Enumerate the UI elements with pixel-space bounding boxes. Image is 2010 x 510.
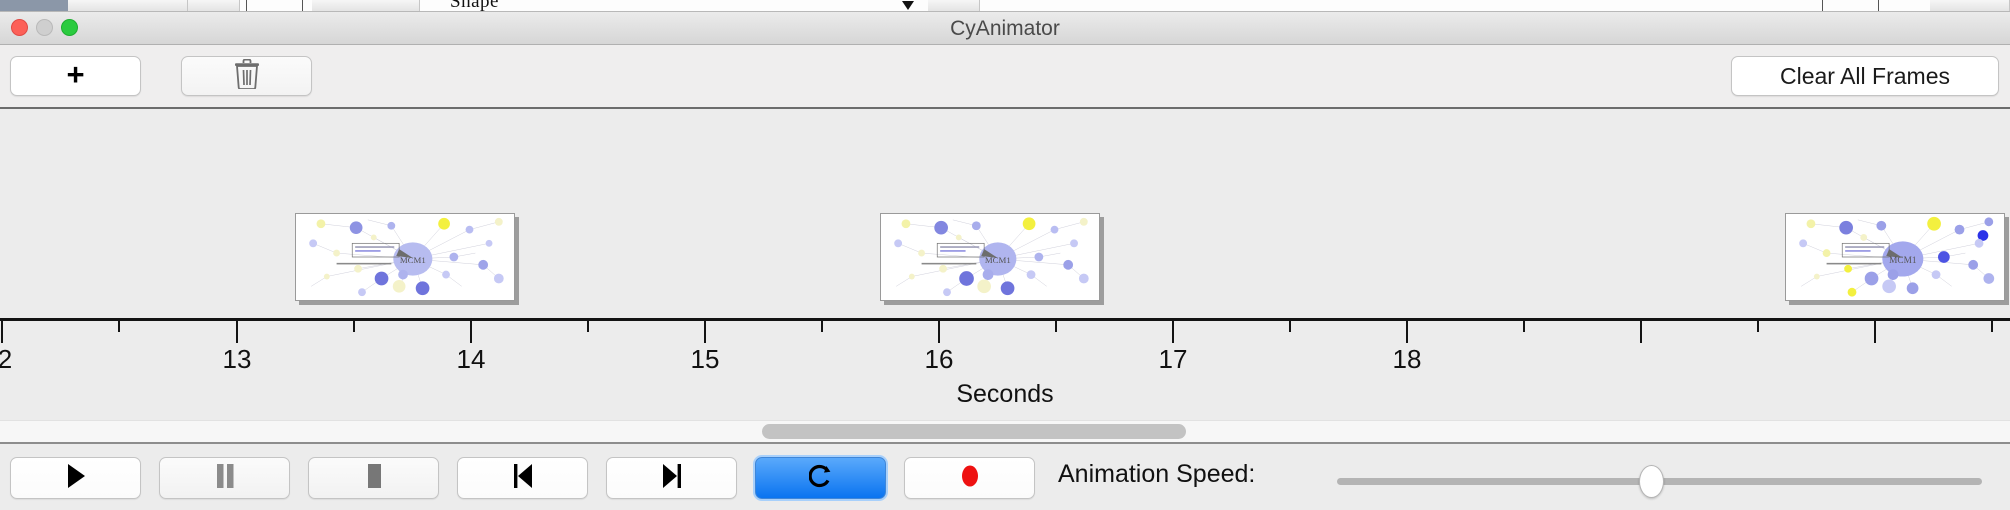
play-icon bbox=[65, 463, 87, 494]
toolbar: + Clear All Frames bbox=[0, 45, 2010, 109]
ruler-tick-major bbox=[470, 321, 472, 343]
ruler-label-13: 13 bbox=[223, 344, 252, 375]
ruler-baseline bbox=[0, 318, 2010, 321]
ruler-tick-minor bbox=[587, 321, 589, 332]
timeline-ruler[interactable]: 2 13 14 15 16 17 18 bbox=[0, 318, 2010, 355]
frames-timeline-panel[interactable]: MCM1 bbox=[0, 109, 2010, 318]
trash-icon bbox=[234, 59, 260, 94]
timeline-frame-3[interactable]: MCM1 bbox=[1785, 213, 2005, 301]
background-window-cell bbox=[1930, 0, 2010, 11]
background-window-caret-icon bbox=[902, 1, 914, 10]
pause-button[interactable] bbox=[159, 457, 290, 499]
ruler-label-18: 18 bbox=[1393, 344, 1422, 375]
ruler-tick-minor bbox=[1523, 321, 1525, 332]
background-window-tick bbox=[1822, 0, 1823, 11]
record-icon bbox=[958, 463, 982, 494]
ruler-label-16: 16 bbox=[925, 344, 954, 375]
ruler-tick-minor bbox=[1991, 321, 1993, 332]
ruler-tick-minor bbox=[1055, 321, 1057, 332]
timeline-frame-1[interactable]: MCM1 bbox=[295, 213, 515, 301]
ruler-tick-major bbox=[704, 321, 706, 343]
record-button[interactable] bbox=[904, 457, 1035, 499]
background-window-label: Shape bbox=[450, 0, 499, 12]
background-window-tick bbox=[1878, 0, 1879, 11]
ruler-tick-minor bbox=[821, 321, 823, 332]
background-window-cell bbox=[312, 0, 420, 11]
clear-all-frames-button[interactable]: Clear All Frames bbox=[1731, 56, 1999, 96]
network-thumbnail-3: MCM1 bbox=[1786, 214, 2004, 300]
ruler-tick-minor bbox=[353, 321, 355, 332]
add-frame-button[interactable]: + bbox=[10, 56, 141, 96]
skip-back-icon bbox=[510, 463, 536, 494]
hub-node-label: MCM1 bbox=[985, 255, 1011, 265]
ruler-label-15: 15 bbox=[691, 344, 720, 375]
ruler-tick-minor bbox=[1289, 321, 1291, 332]
ruler-tick-minor bbox=[1757, 321, 1759, 332]
background-window-cell bbox=[928, 0, 980, 11]
background-window-tick bbox=[246, 0, 247, 11]
skip-to-end-button[interactable] bbox=[606, 457, 737, 499]
ruler-label-12: 2 bbox=[0, 344, 12, 375]
skip-to-start-button[interactable] bbox=[457, 457, 588, 499]
ruler-tick-minor bbox=[118, 321, 120, 332]
loop-button[interactable] bbox=[755, 457, 886, 499]
stop-button[interactable] bbox=[308, 457, 439, 499]
timeline-scrollbar-thumb[interactable] bbox=[762, 424, 1186, 439]
stop-icon bbox=[363, 463, 385, 494]
play-button[interactable] bbox=[10, 457, 141, 499]
ruler-tick-major bbox=[236, 321, 238, 343]
animation-speed-slider-thumb[interactable] bbox=[1639, 465, 1664, 498]
pause-icon bbox=[214, 463, 236, 494]
window-title: CyAnimator bbox=[0, 12, 2010, 45]
hub-node-label: MCM1 bbox=[400, 255, 426, 265]
background-window: Shape bbox=[0, 0, 2010, 12]
ruler-label-14: 14 bbox=[457, 344, 486, 375]
title-bar: CyAnimator bbox=[0, 12, 2010, 45]
ruler-tick-major bbox=[1, 321, 3, 343]
background-window-cell bbox=[188, 0, 240, 11]
network-thumbnail-1: MCM1 bbox=[296, 214, 514, 300]
ruler-label-17: 17 bbox=[1159, 344, 1188, 375]
ruler-tick-major bbox=[1406, 321, 1408, 343]
hub-node-label: MCM1 bbox=[1889, 256, 1917, 266]
ruler-tick-major bbox=[1172, 321, 1174, 343]
ruler-tick-major bbox=[1874, 321, 1876, 343]
background-window-cell bbox=[68, 0, 188, 11]
axis-title: Seconds bbox=[0, 380, 2010, 409]
skip-forward-icon bbox=[659, 463, 685, 494]
delete-frame-button[interactable] bbox=[181, 56, 312, 96]
network-thumbnail-2: MCM1 bbox=[881, 214, 1099, 300]
background-window-tick bbox=[302, 0, 303, 11]
loop-icon bbox=[809, 462, 833, 495]
plus-icon: + bbox=[66, 59, 84, 90]
ruler-tick-major bbox=[1640, 321, 1642, 343]
timeline-frame-2[interactable]: MCM1 bbox=[880, 213, 1100, 301]
background-window-swatch bbox=[0, 0, 68, 11]
ruler-tick-major bbox=[938, 321, 940, 343]
animation-speed-label: Animation Speed: bbox=[1058, 460, 1255, 489]
